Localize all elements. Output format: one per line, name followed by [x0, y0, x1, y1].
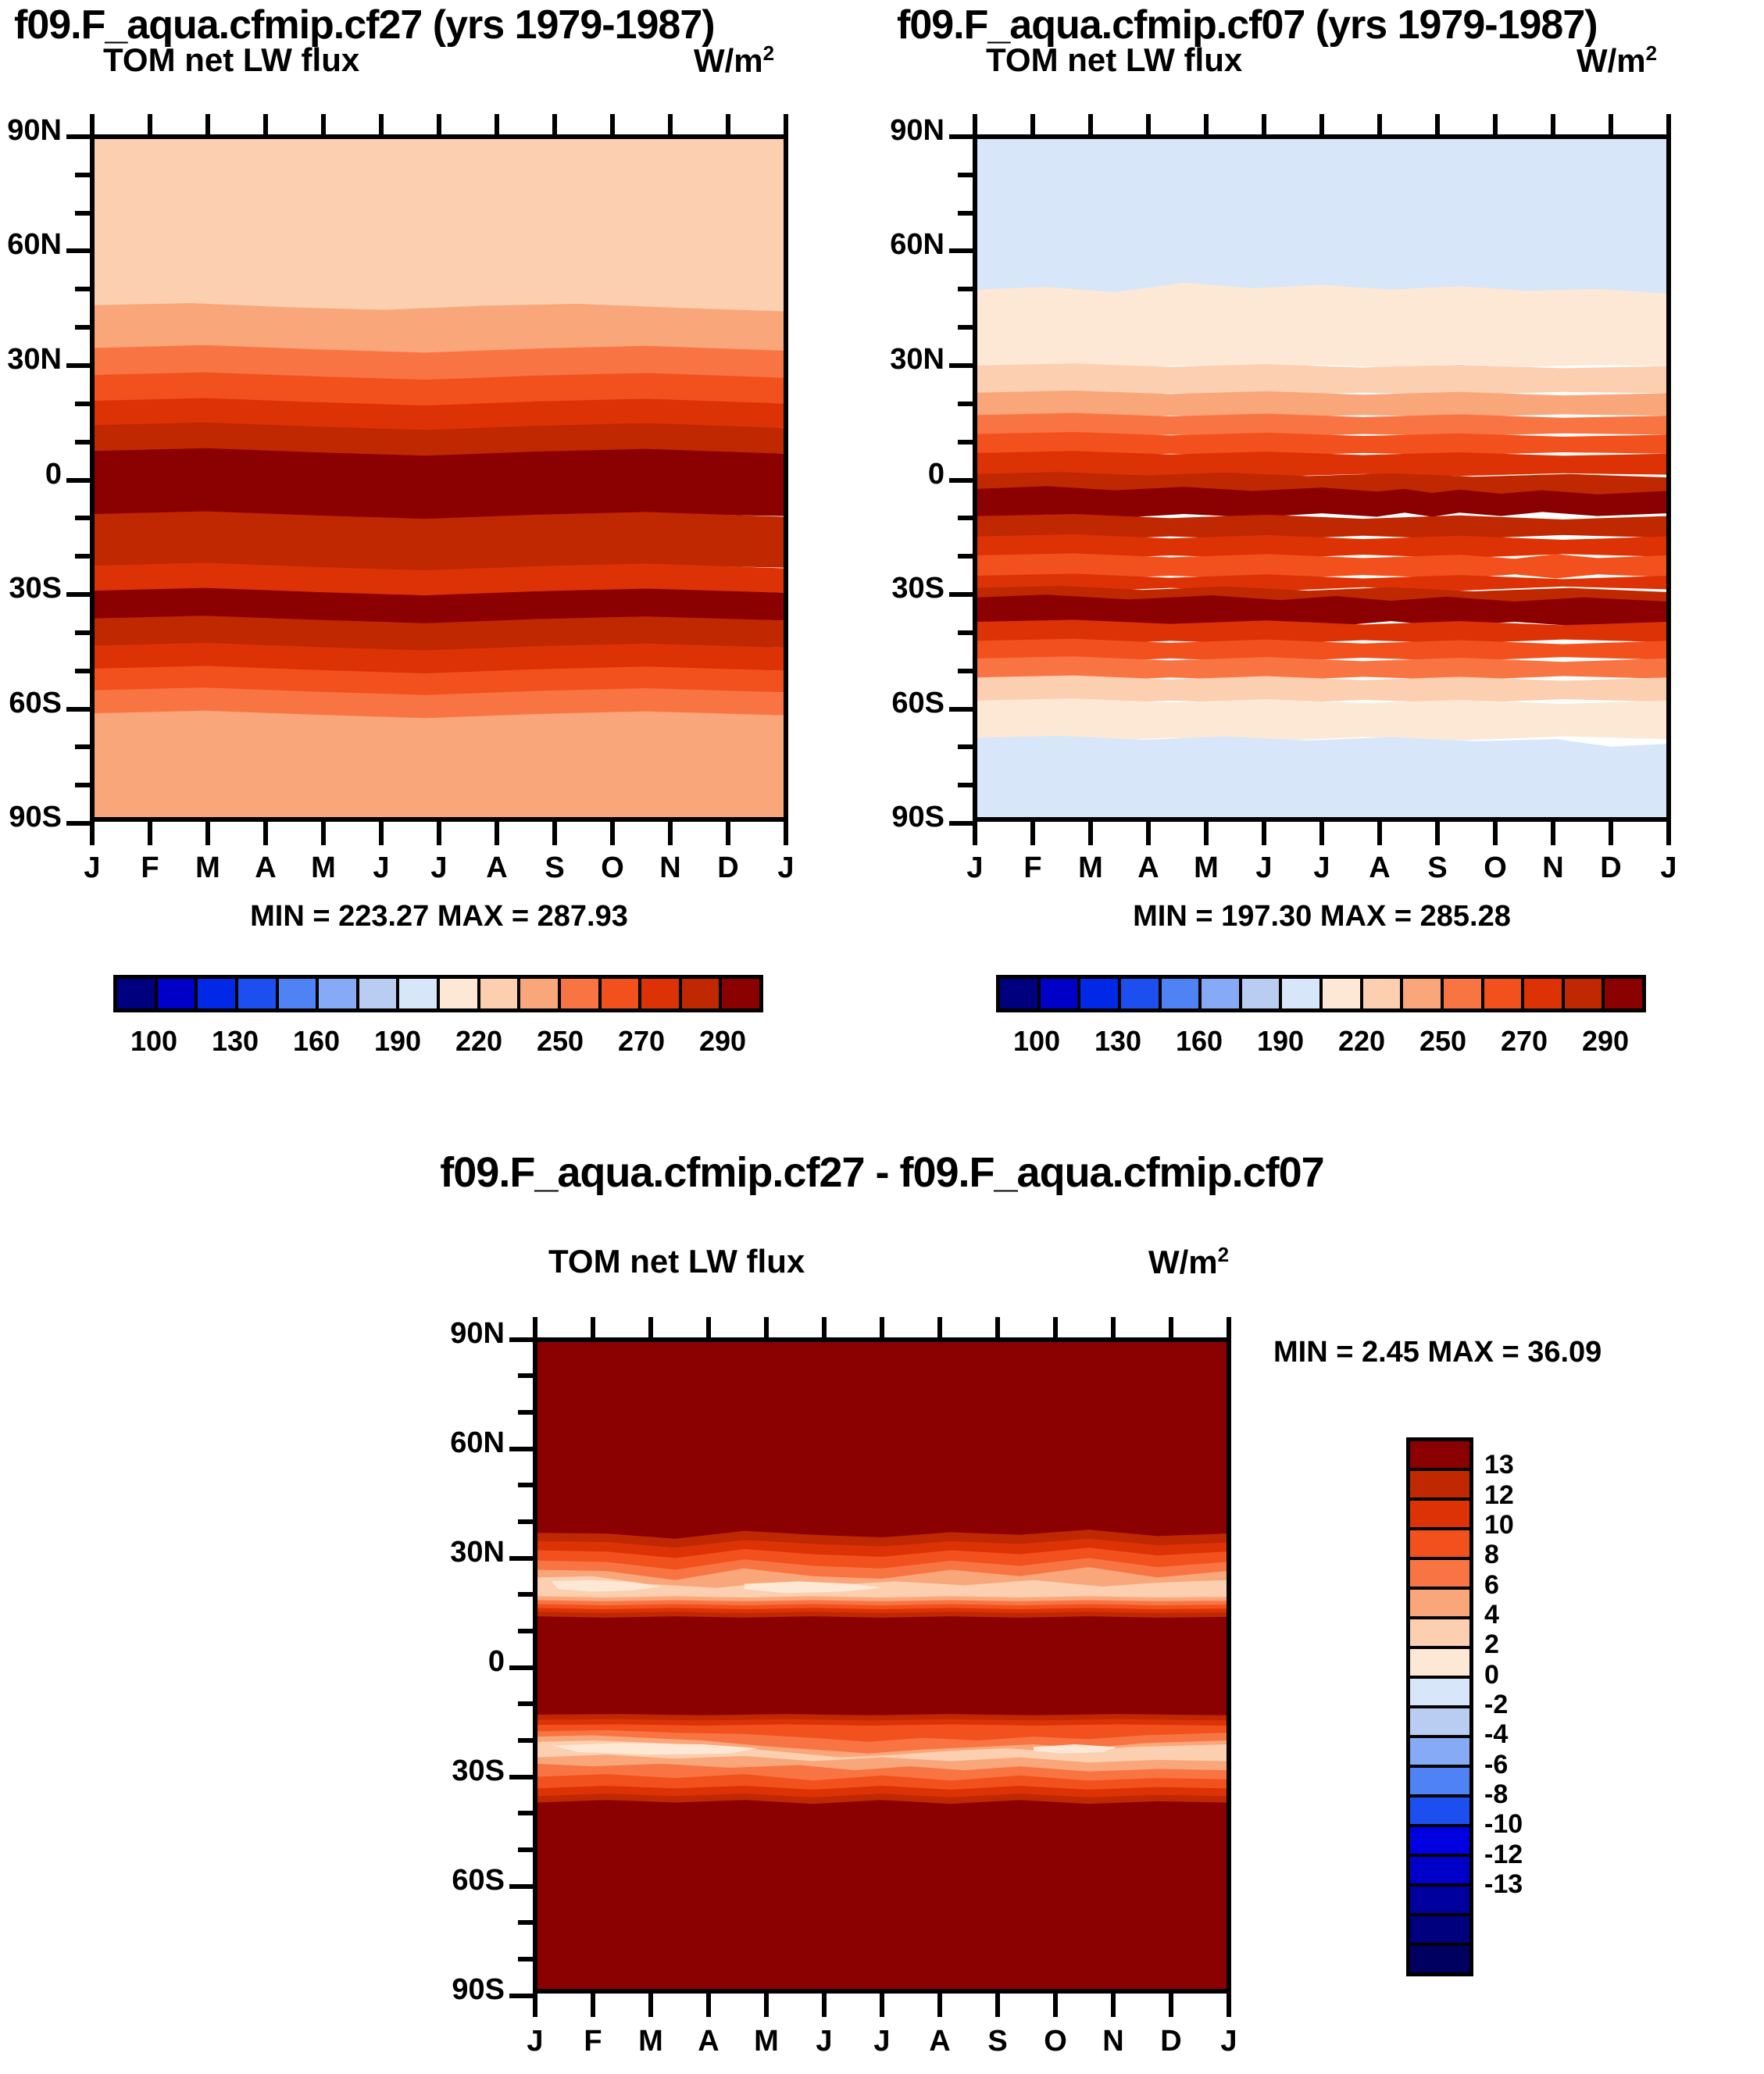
- x-tick-top: [937, 1317, 942, 1337]
- colorbar-tick-label: 13: [1484, 1450, 1514, 1480]
- colorbar-tick-label: -10: [1484, 1809, 1523, 1840]
- colorbar-tick-label: 10: [1484, 1510, 1514, 1540]
- y-axis-label-60n: 60N: [447, 1426, 505, 1460]
- colorbar-cell[interactable]: [1410, 1679, 1469, 1708]
- x-axis-month-label: O: [1035, 2025, 1076, 2058]
- y-tick-minor: [518, 1701, 533, 1706]
- x-axis-month-label: M: [746, 2025, 787, 2058]
- y-tick-minor: [518, 1373, 533, 1378]
- x-tick-bottom: [937, 1994, 942, 2017]
- x-tick-top: [706, 1317, 711, 1337]
- colorbar-cell[interactable]: [1410, 1887, 1469, 1916]
- colorbar-cell[interactable]: [1410, 1827, 1469, 1857]
- x-tick-bottom: [764, 1994, 769, 2017]
- y-axis-label-0: 0: [447, 1645, 505, 1679]
- colorbar-cell[interactable]: [1410, 1857, 1469, 1887]
- x-tick-bottom: [822, 1994, 827, 2017]
- colorbar-cell[interactable]: [1410, 1441, 1469, 1471]
- colorbar-cell[interactable]: [1410, 1649, 1469, 1679]
- x-axis-month-label: A: [919, 2025, 960, 2058]
- x-tick-top: [648, 1317, 653, 1337]
- x-axis-month-label: F: [573, 2025, 613, 2058]
- y-axis-label-90s: 90S: [447, 1973, 505, 2007]
- colorbar-tick-label: 0: [1484, 1660, 1499, 1690]
- y-tick-major: [509, 1994, 533, 1998]
- x-axis-month-label: M: [630, 2025, 671, 2058]
- x-tick-bottom: [648, 1994, 653, 2017]
- x-tick-top: [764, 1317, 769, 1337]
- x-axis-month-label: J: [862, 2025, 902, 2058]
- colorbar-tick-label: 4: [1484, 1600, 1499, 1630]
- colorbar-cell[interactable]: [1410, 1946, 1469, 1972]
- x-tick-top: [995, 1317, 1000, 1337]
- y-tick-minor: [518, 1957, 533, 1962]
- diff-colorbar[interactable]: [1406, 1437, 1473, 1976]
- colorbar-cell[interactable]: [1410, 1619, 1469, 1649]
- colorbar-tick-label: 2: [1484, 1630, 1499, 1660]
- y-tick-major: [509, 1447, 533, 1451]
- colorbar-tick-label: 12: [1484, 1480, 1514, 1511]
- x-tick-top: [591, 1317, 595, 1337]
- x-tick-bottom: [1227, 1994, 1231, 2017]
- y-tick-minor: [518, 1410, 533, 1415]
- x-axis-month-label: J: [515, 2025, 555, 2058]
- y-tick-major: [509, 1665, 533, 1670]
- x-tick-bottom: [706, 1994, 711, 2017]
- y-tick-major: [509, 1337, 533, 1342]
- colorbar-tick-label: -6: [1484, 1750, 1508, 1780]
- y-tick-minor: [518, 1811, 533, 1815]
- y-axis-label-30n: 30N: [447, 1536, 505, 1569]
- x-tick-top: [1111, 1317, 1116, 1337]
- colorbar-tick-label: 8: [1484, 1540, 1499, 1570]
- x-axis-month-label: J: [804, 2025, 845, 2058]
- x-tick-bottom: [995, 1994, 1000, 2017]
- y-axis-label-30s: 30S: [447, 1755, 505, 1788]
- x-tick-bottom: [591, 1994, 595, 2017]
- colorbar-tick-label: -8: [1484, 1779, 1508, 1810]
- colorbar-cell[interactable]: [1410, 1708, 1469, 1738]
- y-tick-major: [509, 1775, 533, 1779]
- diff-minmax: MIN = 2.45 MAX = 36.09: [1273, 1336, 1602, 1369]
- colorbar-tick-label: -2: [1484, 1690, 1508, 1720]
- colorbar-tick-label: 6: [1484, 1570, 1499, 1601]
- colorbar-tick-label: -4: [1484, 1719, 1508, 1750]
- y-tick-major: [509, 1884, 533, 1889]
- x-tick-top: [1169, 1317, 1173, 1337]
- y-tick-minor: [518, 1519, 533, 1524]
- x-tick-bottom: [880, 1994, 884, 2017]
- y-axis-label-60s: 60S: [447, 1864, 505, 1897]
- x-tick-top: [533, 1317, 537, 1337]
- y-tick-minor: [518, 1847, 533, 1852]
- x-axis-month-label: N: [1093, 2025, 1134, 2058]
- x-tick-bottom: [1169, 1994, 1173, 2017]
- x-tick-bottom: [1111, 1994, 1116, 2017]
- x-axis-month-label: S: [977, 2025, 1018, 2058]
- y-tick-minor: [518, 1592, 533, 1597]
- x-axis-month-label: J: [1209, 2025, 1249, 2058]
- x-tick-top: [880, 1317, 884, 1337]
- colorbar-cell[interactable]: [1410, 1530, 1469, 1560]
- colorbar-cell[interactable]: [1410, 1471, 1469, 1501]
- x-tick-bottom: [1053, 1994, 1058, 2017]
- y-tick-major: [509, 1556, 533, 1561]
- x-tick-top: [1053, 1317, 1058, 1337]
- colorbar-cell[interactable]: [1410, 1590, 1469, 1619]
- y-tick-minor: [518, 1629, 533, 1633]
- colorbar-cell[interactable]: [1410, 1916, 1469, 1946]
- colorbar-cell[interactable]: [1410, 1560, 1469, 1590]
- y-axis-label-90n: 90N: [447, 1317, 505, 1351]
- colorbar-tick-label: -12: [1484, 1840, 1523, 1870]
- colorbar-cell[interactable]: [1410, 1738, 1469, 1768]
- colorbar-tick-label: -13: [1484, 1869, 1523, 1900]
- x-tick-top: [1227, 1317, 1231, 1337]
- colorbar-cell[interactable]: [1410, 1768, 1469, 1797]
- y-tick-minor: [518, 1738, 533, 1743]
- x-axis-month-label: D: [1151, 2025, 1191, 2058]
- colorbar-cell[interactable]: [1410, 1797, 1469, 1827]
- x-tick-top: [822, 1317, 827, 1337]
- x-axis-month-label: A: [688, 2025, 729, 2058]
- y-tick-minor: [518, 1920, 533, 1925]
- y-tick-minor: [518, 1483, 533, 1487]
- x-tick-bottom: [533, 1994, 537, 2017]
- colorbar-cell[interactable]: [1410, 1501, 1469, 1530]
